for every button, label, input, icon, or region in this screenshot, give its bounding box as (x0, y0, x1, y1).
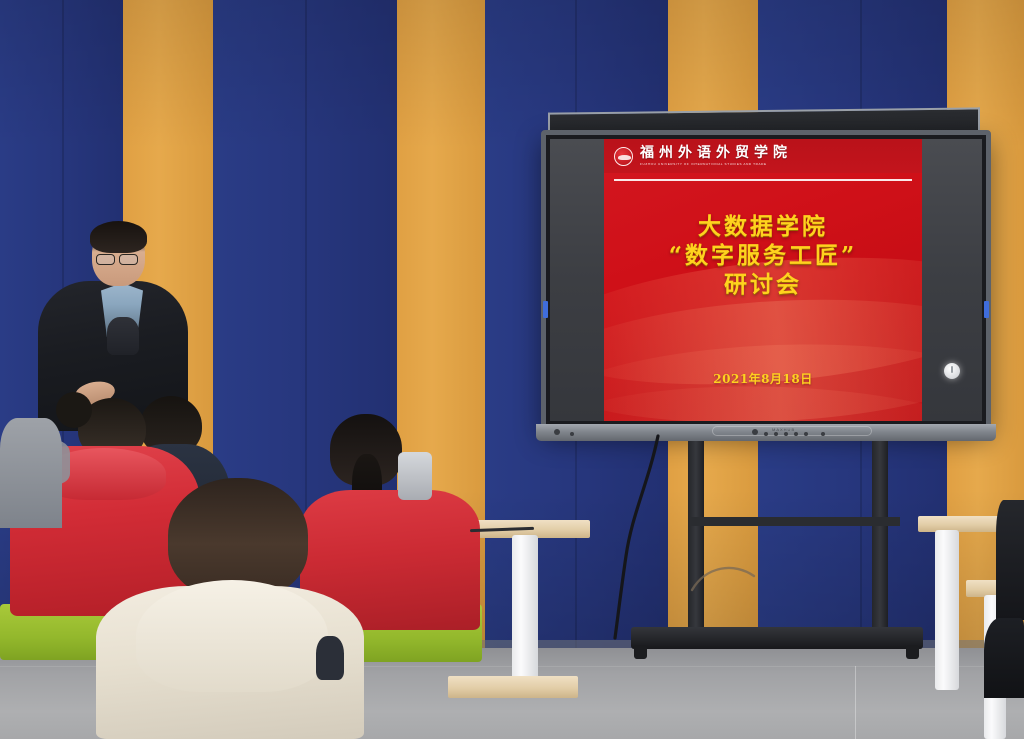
bag-strap (316, 636, 344, 680)
presentation-slide: 福州外语外贸学院 FUZHOU UNIVERSITY OF INTERNATIO… (604, 139, 922, 421)
display-side-led-right (984, 301, 989, 318)
stand-caster (906, 645, 919, 659)
slide-header-band: 福州外语外贸学院 FUZHOU UNIVERSITY OF INTERNATIO… (604, 139, 922, 173)
bezel-power-button[interactable] (752, 429, 758, 435)
attendee-hood (136, 580, 328, 692)
floor-cable-coil (690, 560, 760, 600)
student-desk-top (448, 676, 578, 698)
bezel-sensor (554, 429, 560, 435)
display-stand-leg-left (688, 441, 704, 631)
attendee-torso (0, 418, 62, 528)
slide-institution-block: 福州外语外贸学院 FUZHOU UNIVERSITY OF INTERNATIO… (640, 146, 792, 166)
slide-divider-rule (614, 179, 912, 181)
institution-name-cn: 福州外语外贸学院 (640, 146, 792, 160)
slide-date: 2021年8月18日 (604, 370, 922, 387)
stand-caster (634, 645, 647, 659)
slide-title-line-1: 大数据学院 (604, 213, 922, 242)
display-control-bezel[interactable]: MAXHUB (536, 424, 996, 441)
student-desk-panel (512, 535, 538, 685)
display-stand-crossbar (690, 517, 900, 526)
eyeglasses-icon (119, 254, 138, 265)
attendee-head-back (56, 392, 92, 428)
pillarbox-left (550, 139, 604, 421)
speaker-hair (90, 221, 147, 253)
display-screen[interactable]: 福州外语外贸学院 FUZHOU UNIVERSITY OF INTERNATIO… (550, 139, 982, 421)
power-cable (612, 436, 664, 640)
floor-grout-line (855, 666, 856, 739)
speaker-sweater (107, 317, 139, 355)
bezel-button[interactable] (804, 432, 808, 436)
slide-title-line-3: 研讨会 (604, 271, 922, 300)
slide-title: 大数据学院 “数字服务工匠” 研讨会 (604, 213, 922, 300)
slide-title-line-2: “数字服务工匠” (604, 242, 922, 271)
bezel-sensor (570, 432, 574, 436)
student-desk-panel (935, 530, 959, 690)
bezel-button[interactable] (784, 432, 788, 436)
display-stand-base (631, 627, 923, 649)
institution-name-en: FUZHOU UNIVERSITY OF INTERNATIONAL STUDI… (640, 162, 792, 166)
university-seal-icon (614, 147, 633, 166)
attendee-far-right-legs (984, 618, 1024, 698)
eyeglasses-icon (96, 254, 115, 265)
bezel-button[interactable] (764, 432, 768, 436)
bezel-button[interactable] (821, 432, 825, 436)
lecture-room-photo: 福州外语外贸学院 FUZHOU UNIVERSITY OF INTERNATIO… (0, 0, 1024, 739)
thermos-bottle (398, 452, 432, 500)
attendee-far-right (996, 500, 1024, 620)
display-stand-leg-right (872, 441, 888, 631)
power-indicator-icon[interactable] (944, 363, 960, 379)
interactive-flat-panel-display[interactable]: 福州外语外贸学院 FUZHOU UNIVERSITY OF INTERNATIO… (541, 130, 991, 430)
bezel-button[interactable] (794, 432, 798, 436)
display-side-led-left (543, 301, 548, 318)
bezel-button[interactable] (774, 432, 778, 436)
